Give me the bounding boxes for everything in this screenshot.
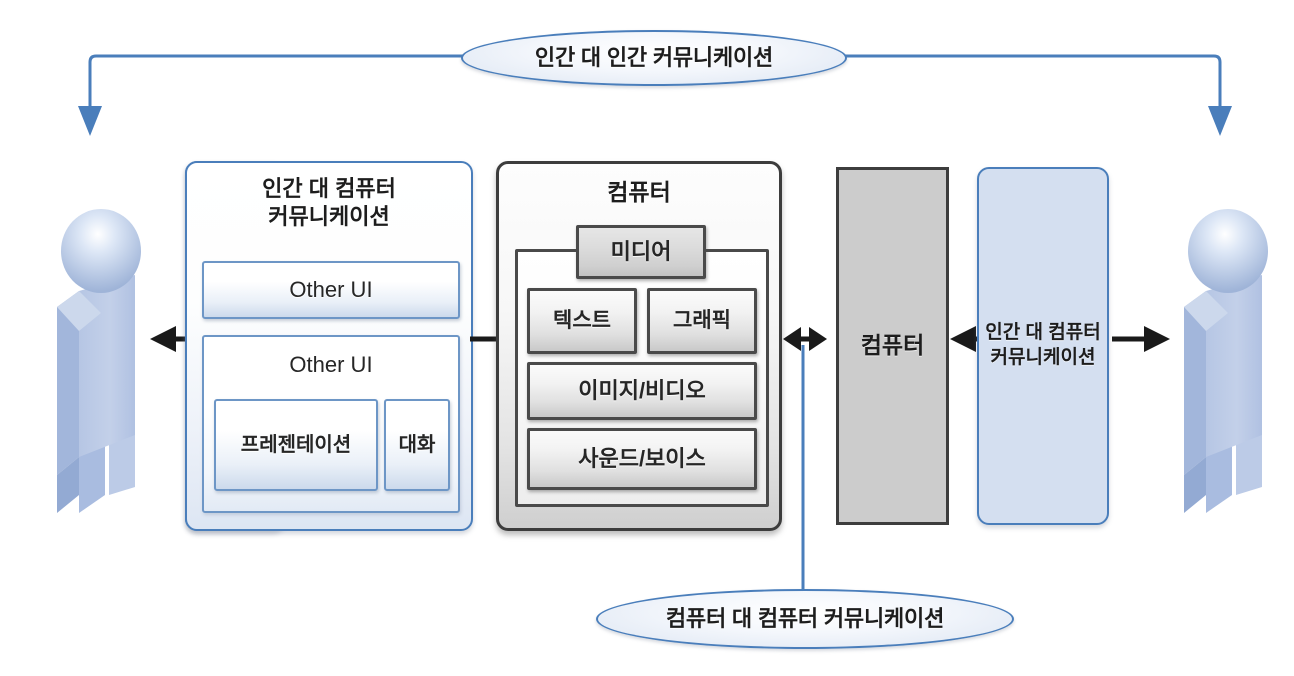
right-computer-label: 컴퓨터 [861, 332, 924, 360]
bottom-callout-label: 컴퓨터 대 컴퓨터 커뮤니케이션 [666, 606, 944, 632]
left-box-presentation-label: 프레젠테이션 [241, 433, 351, 457]
center-box-sound-voice[interactable]: 사운드/보이스 [527, 428, 757, 490]
left-box-other-ui-top[interactable]: Other UI [202, 261, 460, 319]
center-box-graphic[interactable]: 그래픽 [647, 288, 757, 354]
left-panel-title-line1: 인간 대 컴퓨터 [187, 175, 471, 203]
center-panel-title-label: 컴퓨터 [607, 179, 670, 207]
top-left-arrowhead-icon [78, 106, 102, 136]
diagram-canvas: 인간 대 인간 커뮤니케이션 [0, 0, 1294, 676]
center-box-sound-voice-label: 사운드/보이스 [578, 446, 706, 472]
arrow-double-center-computer-icon [783, 322, 827, 356]
right-panel: 인간 대 컴퓨터 커뮤니케이션 [977, 167, 1109, 525]
top-callout-label: 인간 대 인간 커뮤니케이션 [535, 45, 773, 71]
right-panel-title: 인간 대 컴퓨터 커뮤니케이션 [985, 321, 1100, 370]
center-panel: 컴퓨터 미디어 텍스트 그래픽 이미지/비디오 사운드/보이스 [496, 161, 782, 531]
left-panel-title-line2: 커뮤니케이션 [187, 203, 471, 231]
right-panel-title-line1: 인간 대 컴퓨터 [985, 321, 1100, 346]
center-box-text-label: 텍스트 [553, 308, 611, 333]
center-box-media-label: 미디어 [611, 239, 672, 265]
left-box-dialog-label: 대화 [399, 433, 436, 457]
left-panel-title: 인간 대 컴퓨터 커뮤니케이션 [187, 175, 471, 230]
top-right-arrowhead-icon [1208, 106, 1232, 136]
left-box-other-ui-bottom[interactable]: Other UI 프레젠테이션 대화 [202, 335, 460, 513]
center-panel-title: 컴퓨터 [499, 164, 779, 222]
arrow-right-person-icon [1110, 322, 1170, 356]
left-box-dialog[interactable]: 대화 [384, 399, 450, 491]
center-box-image-video-label: 이미지/비디오 [578, 378, 706, 404]
left-panel-body: 인간 대 컴퓨터 커뮤니케이션 Other UI Other UI 프레젠테이션… [185, 161, 473, 531]
right-panel-title-line2: 커뮤니케이션 [985, 346, 1100, 371]
right-computer-box[interactable]: 컴퓨터 [836, 167, 949, 525]
top-right-connector-line [838, 56, 1220, 68]
left-box-other-ui-top-label: Other UI [289, 277, 372, 303]
center-box-text[interactable]: 텍스트 [527, 288, 637, 354]
center-box-graphic-label: 그래픽 [673, 308, 731, 333]
center-box-image-video[interactable]: 이미지/비디오 [527, 362, 757, 420]
person-left-icon [45, 195, 165, 525]
left-box-presentation[interactable]: 프레젠테이션 [214, 399, 378, 491]
top-callout-ellipse: 인간 대 인간 커뮤니케이션 [461, 30, 847, 86]
left-box-other-ui-bottom-label-wrap: Other UI [204, 337, 458, 393]
left-box-other-ui-bottom-label: Other UI [289, 352, 372, 378]
person-right-icon [1172, 195, 1292, 525]
center-box-media[interactable]: 미디어 [576, 225, 706, 279]
bottom-callout-ellipse: 컴퓨터 대 컴퓨터 커뮤니케이션 [596, 589, 1014, 649]
top-left-connector-line [90, 56, 466, 68]
